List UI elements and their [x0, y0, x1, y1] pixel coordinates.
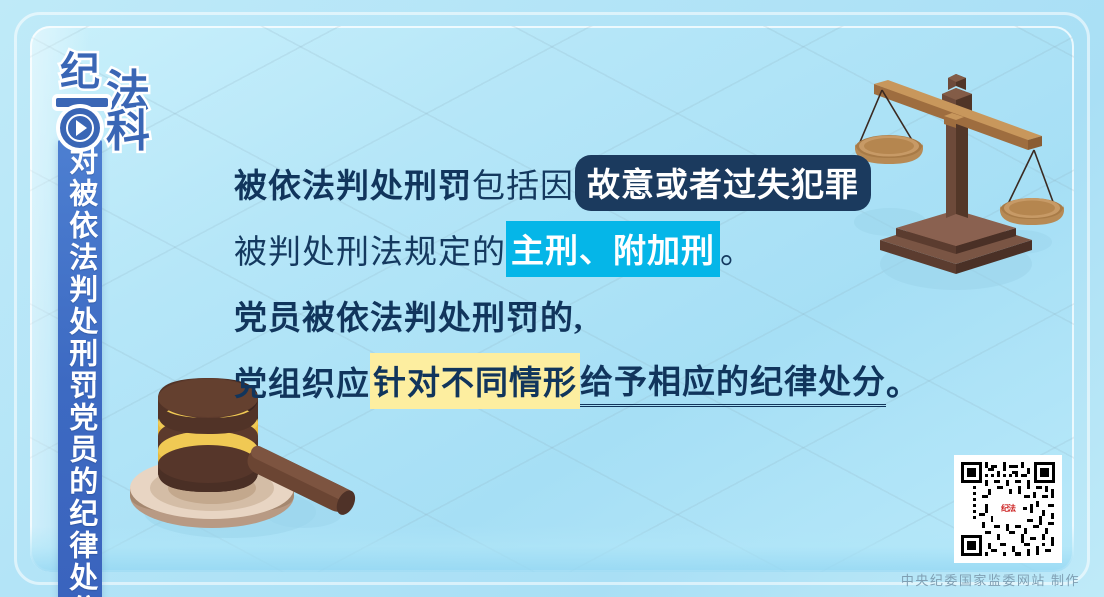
text-line-3: 党员被依法判处刑罚的,: [234, 282, 874, 348]
line2-seg-1: 被判处刑法规定的: [234, 225, 506, 273]
footer-credit: 中央纪委国家监委网站 制作: [901, 570, 1080, 589]
infographic-poster: 纪 法 科 对被依法判处刑罚党员的纪律处分 被依法判处刑罚 包括因 故意或者过失…: [0, 0, 1104, 597]
line2-seg-3: 。: [720, 225, 754, 273]
logo-char-ke: 科: [106, 110, 150, 154]
play-circle-icon: [60, 108, 100, 148]
qr-code[interactable]: 纪法: [954, 455, 1062, 563]
line2-highlight-cyan: 主刑、附加刑: [506, 221, 720, 277]
qr-code-canvas: 纪法: [958, 459, 1058, 559]
line1-seg-2: 包括因: [472, 159, 574, 207]
vertical-title-text: 对被依法判处刑罚党员的纪律处分: [65, 146, 95, 597]
line4-underlined: 给予相应的纪律处分: [580, 355, 886, 407]
line1-seg-1: 被依法判处刑罚: [234, 159, 472, 207]
logo-char-ji: 纪: [60, 52, 100, 92]
logo-bar-shape: [56, 98, 108, 107]
vertical-title-banner: 对被依法判处刑罚党员的纪律处分: [58, 140, 102, 597]
line4-seg-4: 。: [886, 357, 920, 405]
brand-logo: 纪 法 科: [50, 52, 170, 152]
text-line-4: 党组织应 针对不同情形 给予相应的纪律处分 。: [234, 348, 874, 414]
text-line-2: 被判处刑法规定的 主刑、附加刑 。: [234, 216, 874, 282]
body-text-block: 被依法判处刑罚 包括因 故意或者过失犯罪 被判处刑法规定的 主刑、附加刑 。 党…: [234, 150, 874, 414]
text-line-1: 被依法判处刑罚 包括因 故意或者过失犯罪: [234, 150, 874, 216]
line3-seg-1: 党员被依法判处刑罚的,: [234, 291, 583, 339]
line1-highlight-pill: 故意或者过失犯罪: [575, 155, 871, 211]
line4-highlight-yellow: 针对不同情形: [370, 353, 580, 409]
qr-center-logo: 纪法: [993, 494, 1023, 524]
line4-seg-1: 党组织应: [234, 357, 370, 405]
